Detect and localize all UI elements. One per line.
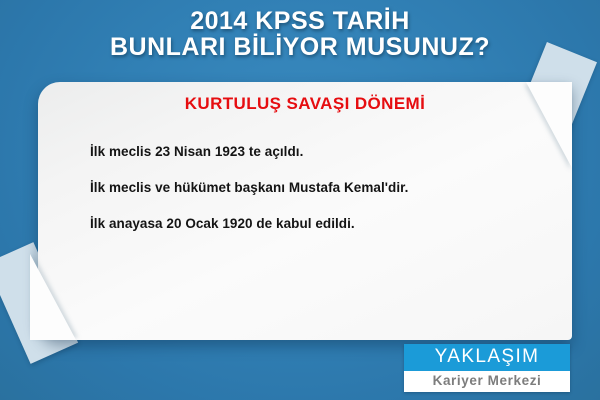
page-fold-top-right xyxy=(526,82,572,168)
fact-item: İlk anayasa 20 Ocak 1920 de kabul edildi… xyxy=(90,216,542,231)
brand-logo-secondary-band: Kariyer Merkezi xyxy=(404,371,570,392)
fact-list: İlk meclis 23 Nisan 1923 te açıldı. İlk … xyxy=(90,144,542,252)
page-fold-bottom-left xyxy=(30,254,76,340)
content-card: KURTULUŞ SAVAŞI DÖNEMİ İlk meclis 23 Nis… xyxy=(38,82,572,340)
brand-logo-primary-band: YAKLAŞIM xyxy=(404,344,570,371)
fact-item: İlk meclis ve hükümet başkanı Mustafa Ke… xyxy=(90,180,542,195)
slide-title: 2014 KPSS TARİH BUNLARI BİLİYOR MUSUNUZ? xyxy=(0,8,600,60)
brand-logo-primary-text: YAKLAŞIM xyxy=(435,346,540,367)
slide-canvas: 2014 KPSS TARİH BUNLARI BİLİYOR MUSUNUZ?… xyxy=(0,0,600,400)
brand-logo: YAKLAŞIM Kariyer Merkezi xyxy=(404,344,570,392)
brand-logo-secondary-text: Kariyer Merkezi xyxy=(433,373,542,388)
fact-item: İlk meclis 23 Nisan 1923 te açıldı. xyxy=(90,144,542,159)
section-heading: KURTULUŞ SAVAŞI DÖNEMİ xyxy=(38,94,572,114)
title-line-secondary: BUNLARI BİLİYOR MUSUNUZ? xyxy=(0,34,600,60)
title-line-primary: 2014 KPSS TARİH xyxy=(0,8,600,34)
